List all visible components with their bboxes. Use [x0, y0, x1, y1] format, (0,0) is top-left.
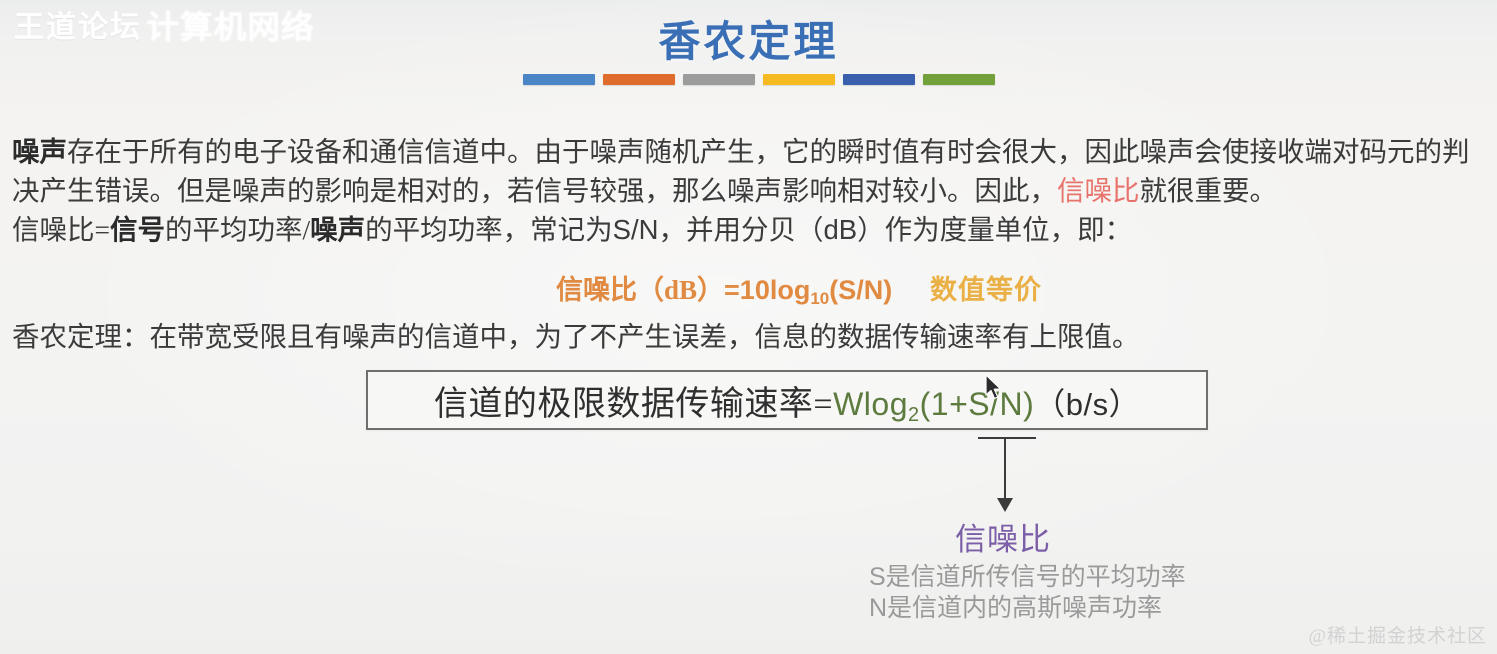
- db-formula-equals: =10log: [724, 275, 810, 305]
- db-formula-arg: (S/N): [829, 275, 892, 305]
- annotation-bracket-line: [978, 437, 1036, 439]
- annotation-arrow-shaft: [1004, 437, 1006, 501]
- annotation-note-n: N是信道内的高斯噪声功率: [869, 593, 1186, 624]
- formula-expression-tail: (1+S/N): [920, 386, 1035, 422]
- slide-canvas: 计算机网络 王道论坛 香农定理 噪声存在于所有的电子设备和通信信道中。由于噪声随…: [0, 0, 1497, 654]
- paragraph-tail-text: 就很重要。: [1140, 175, 1278, 206]
- annotation-arrow-head-icon: [997, 498, 1013, 512]
- watermark-bottom-right: @稀土掘金技术社区: [1309, 621, 1488, 648]
- definition-symbol-sn: S/N: [613, 214, 659, 245]
- definition-bold-signal: 信号: [110, 214, 165, 245]
- formula-lead-text: 信道的极限数据传输速率=: [434, 386, 833, 423]
- accent-bar-green: [923, 74, 995, 85]
- definition-bold-noise: 噪声: [310, 214, 365, 245]
- annotation-notes: S是信道所传信号的平均功率 N是信道内的高斯噪声功率: [869, 562, 1186, 624]
- definition-seg-unit-lead: ，并用分贝（: [659, 214, 824, 245]
- formula-expression: Wlog2(1+S/N): [833, 386, 1034, 422]
- formula-expression-head: Wlog: [833, 386, 908, 422]
- accent-bar-orange: [603, 74, 675, 85]
- definition-seg-mid: 的平均功率/: [165, 214, 310, 245]
- accent-bar-darkblue: [843, 74, 915, 85]
- db-formula: 信噪比（dB）=10log10(S/N): [556, 268, 892, 307]
- snr-definition-line: 信噪比=信号的平均功率/噪声的平均功率，常记为S/N，并用分贝（dB）作为度量单…: [12, 210, 1132, 249]
- shannon-statement: 香农定理：在带宽受限且有噪声的信道中，为了不产生误差，信息的数据传输速率有上限值…: [12, 314, 1140, 354]
- annotation-note-s: S是信道所传信号的平均功率: [869, 562, 1186, 593]
- equivalence-note: 数值等价: [930, 268, 1042, 307]
- db-formula-base: 10: [810, 289, 829, 308]
- paragraph-bold-noise: 噪声: [12, 136, 67, 167]
- watermark-top-left-ghost: 计算机网络: [146, 2, 314, 48]
- definition-seg-lead: 信噪比=: [12, 214, 110, 245]
- accent-bar-group: [523, 74, 995, 85]
- definition-seg-unit-tail: ）作为度量单位，即：: [857, 214, 1132, 245]
- paragraph-highlight-snr: 信噪比: [1057, 175, 1140, 206]
- accent-bar-blue: [523, 74, 595, 85]
- formula-expression-sub: 2: [908, 404, 920, 426]
- definition-seg-after: 的平均功率，常记为: [365, 214, 613, 245]
- accent-bar-gray: [683, 74, 755, 85]
- db-formula-label: 信噪比（dB）: [556, 275, 724, 305]
- formula-unit: （b/s）: [1034, 387, 1140, 422]
- annotation-label-snr: 信噪比: [955, 514, 1051, 559]
- accent-bar-yellow: [763, 74, 835, 85]
- shannon-formula-box: 信道的极限数据传输速率=Wlog2(1+S/N)（b/s）: [366, 370, 1208, 430]
- noise-paragraph: 噪声存在于所有的电子设备和通信信道中。由于噪声随机产生，它的瞬时值有时会很大，因…: [12, 132, 1490, 210]
- watermark-top-left: 王道论坛: [14, 2, 142, 46]
- definition-symbol-db: dB: [824, 214, 858, 245]
- shannon-formula-text: 信道的极限数据传输速率=Wlog2(1+S/N)（b/s）: [434, 376, 1140, 425]
